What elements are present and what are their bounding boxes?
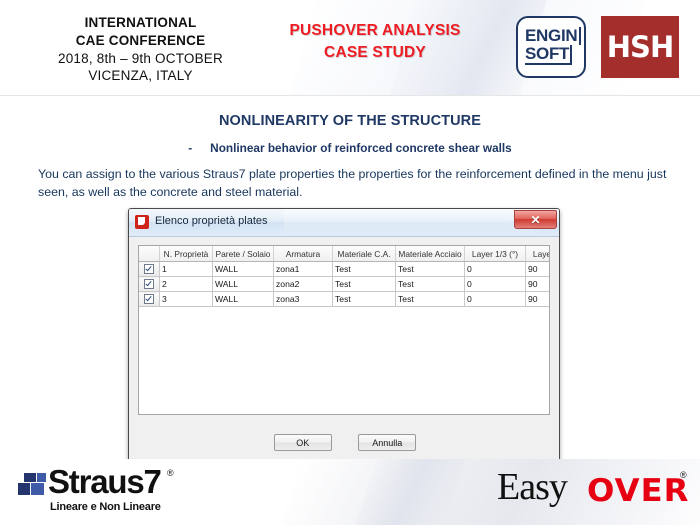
enginsoft-logo-text: ENGIN SOFT (525, 27, 581, 65)
conference-info: INTERNATIONAL CAE CONFERENCE 2018, 8th –… (8, 14, 273, 85)
square-b (31, 483, 44, 495)
table-row[interactable]: 1 WALL zona1 Test Test 0 90 (139, 262, 550, 277)
straus7-logo: Straus7 ® Lineare e Non Lineare (18, 465, 208, 519)
table-row[interactable]: 2 WALL zona2 Test Test 0 90 (139, 277, 550, 292)
presentation-title-line-2: CASE STUDY (255, 42, 495, 64)
body-paragraph: You can assign to the various Straus7 pl… (38, 166, 670, 201)
titlebar-highlight (284, 209, 534, 236)
cell-materiale-ca[interactable]: Test (333, 292, 396, 307)
cell-materiale-acciaio[interactable]: Test (396, 262, 465, 277)
bullet-line: -Nonlinear behavior of reinforced concre… (0, 141, 700, 155)
cell-n-proprieta[interactable]: 3 (160, 292, 213, 307)
cell-materiale-acciaio[interactable]: Test (396, 277, 465, 292)
cell-layer-13[interactable]: 0 (465, 292, 526, 307)
row-select-cell[interactable] (139, 262, 160, 277)
dialog-body: N. Proprietà Parete / Solaio Armatura Ma… (130, 237, 558, 459)
cell-layer-24[interactable]: 90 (526, 292, 551, 307)
column-header-select[interactable] (139, 246, 160, 262)
cell-parete-solaio[interactable]: WALL (213, 292, 274, 307)
cell-layer-24[interactable]: 90 (526, 262, 551, 277)
enginsoft-logo-line-2: SOFT (525, 45, 572, 65)
slide-footer: Straus7 ® Lineare e Non Lineare Easy OVE… (0, 459, 700, 525)
square-a (18, 483, 30, 495)
cell-layer-13[interactable]: 0 (465, 262, 526, 277)
close-button[interactable]: ✕ (514, 210, 557, 229)
slide-canvas: INTERNATIONAL CAE CONFERENCE 2018, 8th –… (0, 0, 700, 525)
bullet-label: Nonlinear behavior of reinforced concret… (210, 141, 512, 155)
cell-materiale-ca[interactable]: Test (333, 277, 396, 292)
checkbox-icon[interactable] (144, 294, 154, 304)
table-row[interactable]: 3 WALL zona3 Test Test 0 90 (139, 292, 550, 307)
straus7-tagline: Lineare e Non Lineare (50, 501, 161, 513)
bullet-dash: - (188, 141, 192, 155)
easyover-logo: Easy OVER ® (497, 468, 692, 516)
row-select-cell[interactable] (139, 292, 160, 307)
cell-n-proprieta[interactable]: 2 (160, 277, 213, 292)
cell-layer-13[interactable]: 0 (465, 277, 526, 292)
cell-materiale-acciaio[interactable]: Test (396, 292, 465, 307)
close-icon: ✕ (530, 214, 540, 226)
hsh-logo-text: HSH (607, 30, 673, 64)
dialog-title: Elenco proprietà plates (155, 215, 268, 227)
checkbox-icon[interactable] (144, 264, 154, 274)
column-header-layer-24[interactable]: Layer 2/4 (°) (526, 246, 551, 262)
enginsoft-logo-line-1: ENGIN (525, 27, 581, 45)
column-header-materiale-ca[interactable]: Materiale C.A. (333, 246, 396, 262)
cell-armatura[interactable]: zona1 (274, 262, 333, 277)
straus7-squares-icon (18, 473, 46, 497)
conference-line-4: VICENZA, ITALY (8, 67, 273, 85)
column-header-n-proprieta[interactable]: N. Proprietà (160, 246, 213, 262)
cancel-button[interactable]: Annulla (358, 434, 416, 451)
row-select-cell[interactable] (139, 277, 160, 292)
table-body: 1 WALL zona1 Test Test 0 90 2 WALL (139, 262, 550, 307)
plate-properties-dialog: Elenco proprietà plates ✕ N. Proprietà P… (128, 208, 560, 461)
enginsoft-logo: ENGIN SOFT (516, 16, 586, 78)
cell-parete-solaio[interactable]: WALL (213, 262, 274, 277)
easyover-word-easy: Easy (497, 468, 567, 506)
easyover-word-over: OVER (587, 476, 690, 507)
cell-parete-solaio[interactable]: WALL (213, 277, 274, 292)
column-header-materiale-acciaio[interactable]: Materiale Acciaio (396, 246, 465, 262)
column-header-parete-solaio[interactable]: Parete / Solaio (213, 246, 274, 262)
app-icon (135, 215, 149, 229)
table-header: N. Proprietà Parete / Solaio Armatura Ma… (139, 246, 550, 262)
slide-header: INTERNATIONAL CAE CONFERENCE 2018, 8th –… (0, 0, 700, 96)
straus7-wordmark: Straus7 (48, 465, 161, 500)
plate-properties-table: N. Proprietà Parete / Solaio Armatura Ma… (139, 246, 550, 307)
plate-properties-grid[interactable]: N. Proprietà Parete / Solaio Armatura Ma… (138, 245, 550, 415)
straus7-registered-mark: ® (167, 468, 174, 478)
cell-materiale-ca[interactable]: Test (333, 262, 396, 277)
square-d (37, 473, 46, 482)
checkbox-icon[interactable] (144, 279, 154, 289)
conference-line-1: INTERNATIONAL (8, 14, 273, 32)
cell-layer-24[interactable]: 90 (526, 277, 551, 292)
column-header-armatura[interactable]: Armatura (274, 246, 333, 262)
header-divider (0, 95, 700, 96)
presentation-title: PUSHOVER ANALYSIS CASE STUDY (255, 20, 495, 65)
column-header-layer-13[interactable]: Layer 1/3 (°) (465, 246, 526, 262)
cell-n-proprieta[interactable]: 1 (160, 262, 213, 277)
table-header-row: N. Proprietà Parete / Solaio Armatura Ma… (139, 246, 550, 262)
conference-line-3: 2018, 8th – 9th OCTOBER (8, 50, 273, 68)
cell-armatura[interactable]: zona2 (274, 277, 333, 292)
conference-line-2: CAE CONFERENCE (8, 32, 273, 50)
easyover-registered-mark: ® (680, 470, 687, 480)
dialog-titlebar[interactable]: Elenco proprietà plates ✕ (129, 209, 559, 237)
dialog-button-row: OK Annulla (130, 433, 560, 451)
hsh-logo: HSH (601, 16, 679, 78)
ok-button[interactable]: OK (274, 434, 332, 451)
presentation-title-line-1: PUSHOVER ANALYSIS (255, 20, 495, 42)
square-c (24, 473, 36, 482)
page-title: NONLINEARITY OF THE STRUCTURE (0, 113, 700, 129)
cell-armatura[interactable]: zona3 (274, 292, 333, 307)
